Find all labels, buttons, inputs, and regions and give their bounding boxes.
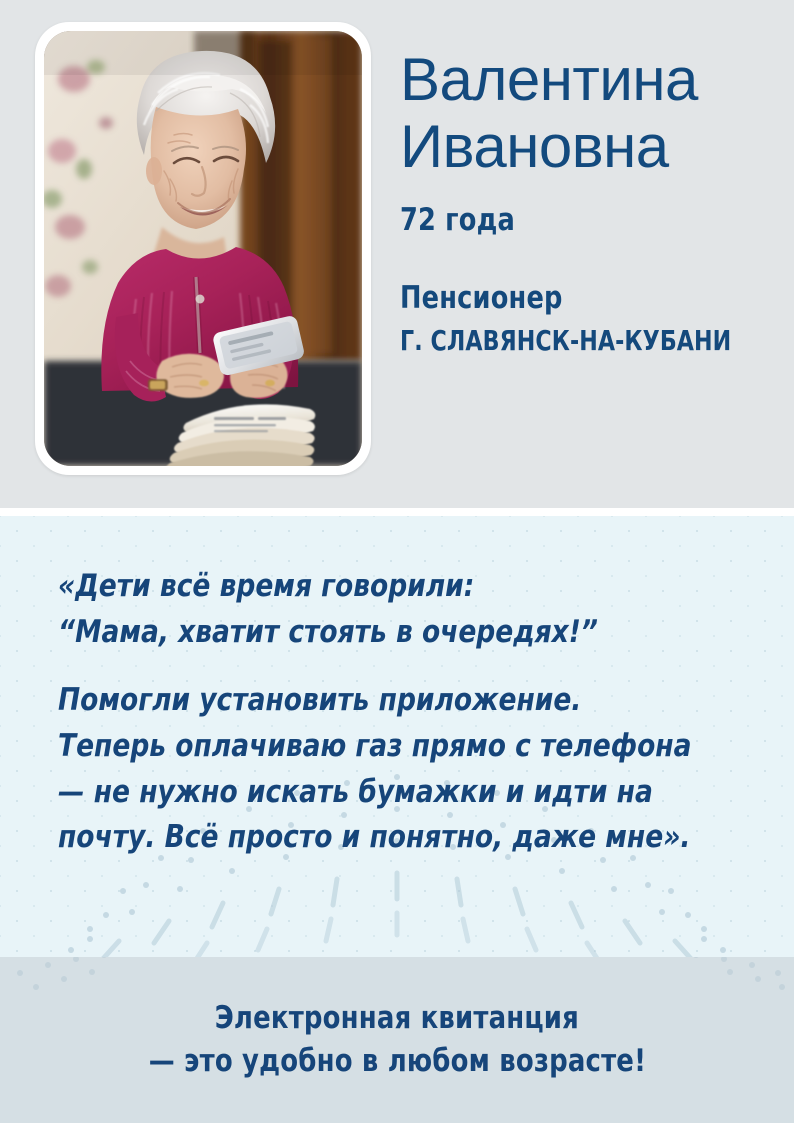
quote-line: — не нужно искать бумажки и идти на	[58, 770, 704, 816]
poster-testimonial-card: Валентина Ивановна 72 года Пенсионер Г. …	[0, 0, 794, 1123]
portrait-photo	[44, 31, 362, 466]
paragraph-spacer	[58, 656, 738, 678]
person-age: 72 года	[400, 202, 748, 238]
header-text-block: Валентина Ивановна 72 года Пенсионер Г. …	[400, 46, 778, 357]
footer-section: Электронная квитанция — это удобно в люб…	[0, 957, 794, 1123]
quote-line: Теперь оплачиваю газ прямо с телефона	[58, 724, 704, 770]
person-city: Г. СЛАВЯНСК-НА-КУБАНИ	[400, 324, 733, 357]
quote-paragraph-2: Помогли установить приложение. Теперь оп…	[58, 678, 738, 862]
footer-headline-1: Электронная квитанция	[215, 997, 579, 1040]
portrait-photo-frame	[35, 22, 371, 475]
quote-line: Помогли установить приложение.	[58, 678, 704, 724]
quote-paragraph-1: «Дети всё время говорили: “Мама, хватит …	[58, 564, 738, 656]
footer-headline-2: — это удобно в любом возрасте!	[148, 1040, 645, 1083]
header-section: Валентина Ивановна 72 года Пенсионер Г. …	[0, 0, 794, 508]
section-divider	[0, 508, 794, 516]
quote-line: “Мама, хватит стоять в очередях!”	[58, 610, 704, 656]
quote-section: «Дети всё время говорили: “Мама, хватит …	[0, 516, 794, 957]
quote-line: почту. Всё просто и понятно, даже мне».	[58, 815, 704, 861]
person-name: Валентина Ивановна	[400, 46, 778, 180]
quote-text: «Дети всё время говорили: “Мама, хватит …	[0, 516, 794, 861]
quote-line: «Дети всё время говорили:	[58, 564, 704, 610]
person-role: Пенсионер	[400, 280, 748, 316]
footer-dot-decoration	[0, 957, 794, 1003]
